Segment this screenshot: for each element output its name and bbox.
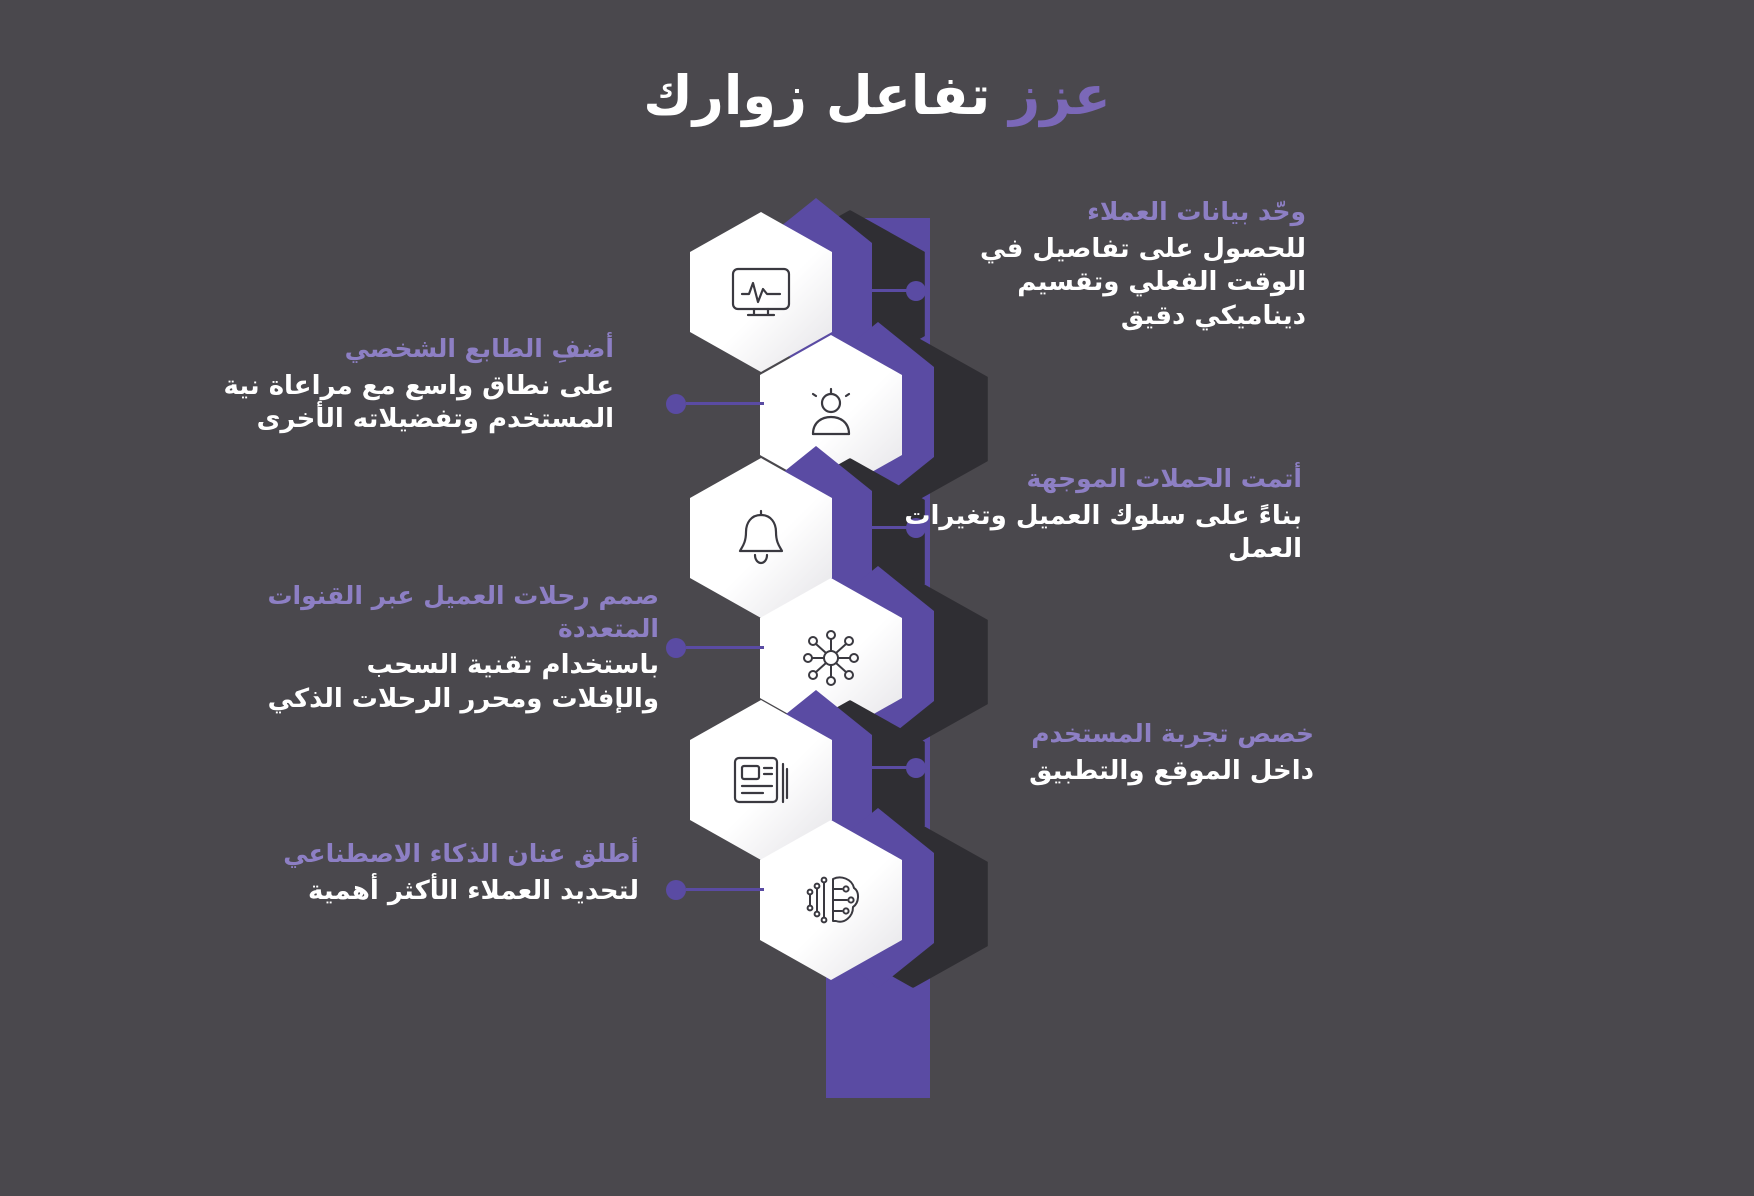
connector-line-4 <box>686 646 764 649</box>
text-block-1: وحّد بيانات العملاء للحصول على تفاصيل في… <box>906 196 1306 334</box>
text-block-6-body: لتحديد العملاء الأكثر أهمية <box>239 875 639 909</box>
page-title: عزز تفاعل زوارك <box>0 62 1754 130</box>
connector-line-6 <box>686 888 764 891</box>
text-block-5: خصص تجربة المستخدم داخل الموقع والتطبيق <box>914 718 1314 788</box>
connector-dot-2 <box>666 394 686 414</box>
text-block-3-body: بناءً على سلوك العميل وتغيرات العمل <box>902 500 1302 568</box>
bell-notification-icon <box>733 509 789 567</box>
connector-dot-6 <box>666 880 686 900</box>
connector-line-2 <box>686 402 764 405</box>
chart-monitor-icon <box>730 266 792 318</box>
text-block-2-heading: أضفِ الطابع الشخصي <box>214 333 614 366</box>
connector-dot-4 <box>666 638 686 658</box>
user-person-icon <box>802 387 860 443</box>
title-accent-word: عزز <box>1009 64 1111 127</box>
ai-brain-circuit-icon <box>800 871 862 929</box>
infographic-canvas: عزز تفاعل زوارك وحّد بيانات العملاء للحص… <box>0 0 1754 1196</box>
text-block-4-heading: صمم رحلات العميل عبر القنوات المتعددة <box>259 580 659 645</box>
text-block-5-body: داخل الموقع والتطبيق <box>914 755 1314 789</box>
text-block-3-heading: أتمت الحملات الموجهة <box>902 463 1302 496</box>
text-block-1-heading: وحّد بيانات العملاء <box>906 196 1306 229</box>
text-block-6-heading: أطلق عنان الذكاء الاصطناعي <box>239 838 639 871</box>
text-block-2: أضفِ الطابع الشخصي على نطاق واسع مع مراع… <box>214 333 614 437</box>
text-block-6: أطلق عنان الذكاء الاصطناعي لتحديد العملا… <box>239 838 639 908</box>
title-rest: تفاعل زوارك <box>643 64 1009 127</box>
text-block-5-heading: خصص تجربة المستخدم <box>914 718 1314 751</box>
text-block-2-body: على نطاق واسع مع مراعاة نية المستخدم وتف… <box>214 370 614 438</box>
text-block-1-body: للحصول على تفاصيل في الوقت الفعلي وتقسيم… <box>906 233 1306 334</box>
text-block-4-body: باستخدام تقنية السحب والإفلات ومحرر الرح… <box>259 649 659 717</box>
text-block-3: أتمت الحملات الموجهة بناءً على سلوك العم… <box>902 463 1302 567</box>
text-block-4: صمم رحلات العميل عبر القنوات المتعددة با… <box>259 580 659 717</box>
network-nodes-icon <box>800 629 862 687</box>
page-title-text: عزز تفاعل زوارك <box>0 62 1754 130</box>
browser-layout-icon <box>731 752 791 808</box>
